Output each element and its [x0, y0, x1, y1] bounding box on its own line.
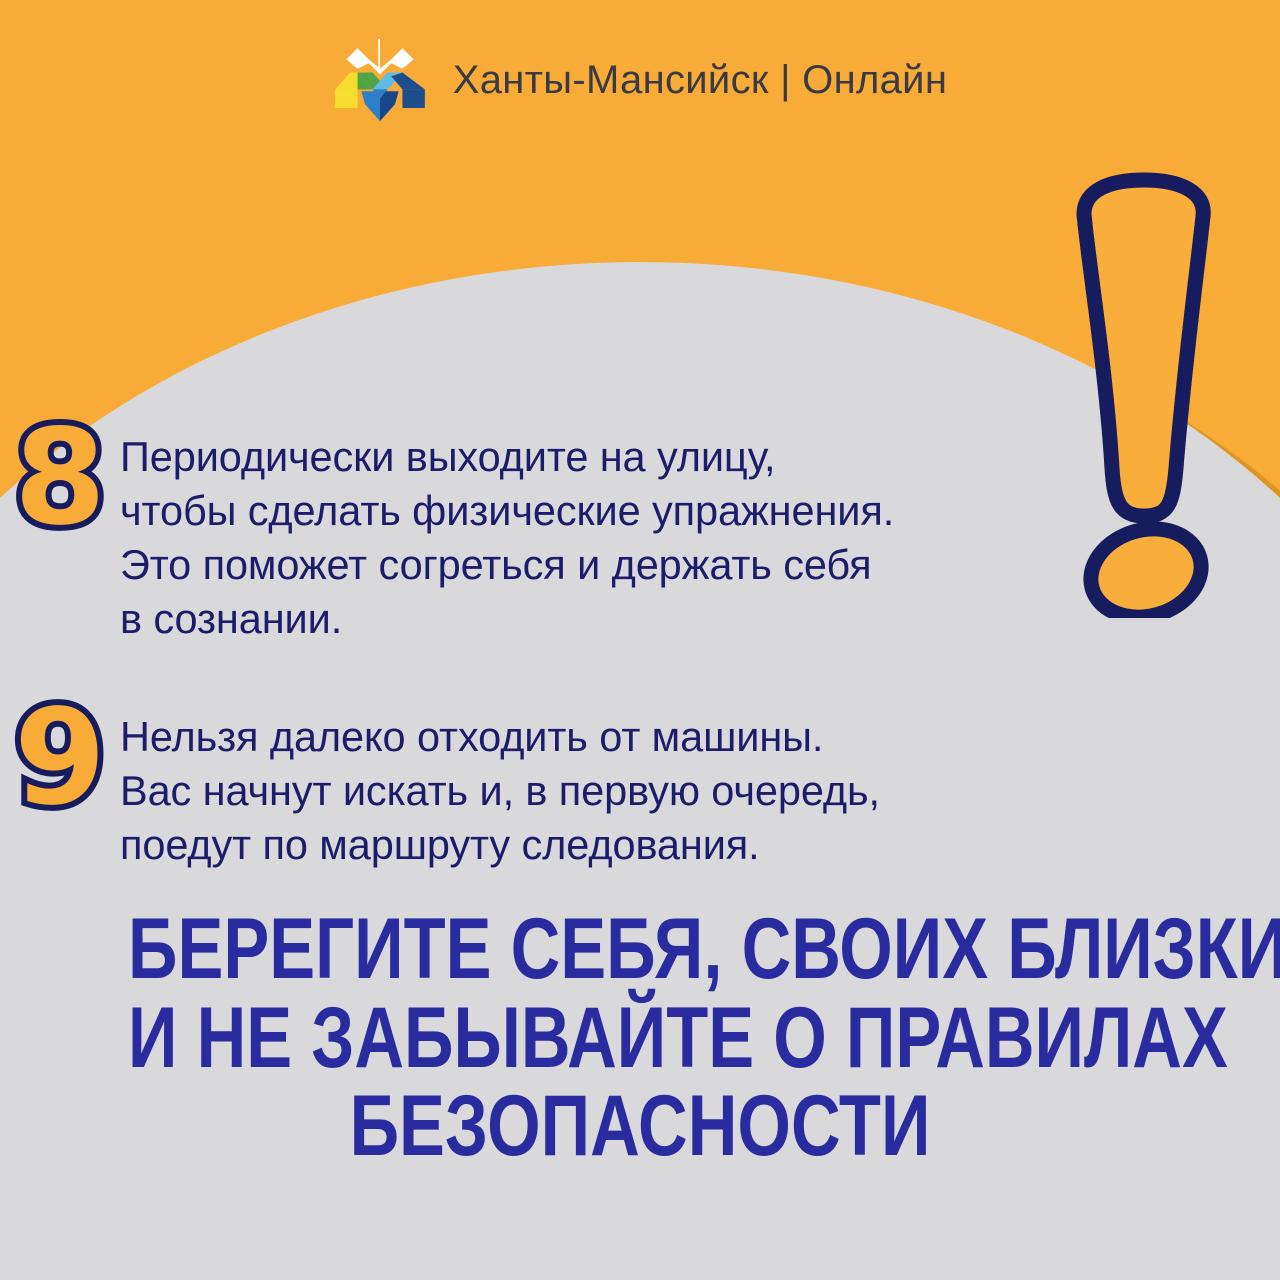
rule-number-8: 8 — [0, 412, 120, 544]
hanty-mansiysk-emblem-icon — [333, 37, 427, 123]
brand-name: Ханты-Мансийск | Онлайн — [453, 58, 947, 103]
rules-list: 8 Периодически выходите на улицу, чтобы … — [0, 418, 1140, 924]
rule-number-9: 9 — [0, 692, 120, 824]
rule-line: поедут по маршруту следования. — [120, 818, 1140, 872]
closing-headline: БЕРЕГИТЕ СЕБЯ, СВОИХ БЛИЗКИХ И НЕ ЗАБЫВА… — [128, 905, 1152, 1171]
rule-line: Периодически выходите на улицу, — [120, 430, 1140, 484]
brand-header: Ханты-Мансийск | Онлайн — [0, 0, 1280, 160]
headline-line: БЕЗОПАСНОСТИ — [128, 1082, 1152, 1171]
rule-item-8: 8 Периодически выходите на улицу, чтобы … — [0, 418, 1140, 646]
rule-item-9: 9 Нельзя далеко отходить от машины. Вас … — [0, 698, 1140, 872]
headline-line: И НЕ ЗАБЫВАЙТЕ О ПРАВИЛАХ — [128, 994, 1152, 1083]
poster-canvas: Ханты-Мансийск | Онлайн 8 Периодически в… — [0, 0, 1280, 1280]
rule-line: Это поможет согреться и держать себя — [120, 538, 1140, 592]
headline-line: БЕРЕГИТЕ СЕБЯ, СВОИХ БЛИЗКИХ — [128, 905, 1152, 994]
exclamation-mark-icon — [1048, 168, 1248, 618]
rule-text-8: Периодически выходите на улицу, чтобы сд… — [120, 418, 1140, 646]
rule-text-9: Нельзя далеко отходить от машины. Вас на… — [120, 698, 1140, 872]
rule-line: чтобы сделать физические упражнения. — [120, 484, 1140, 538]
rule-line: Нельзя далеко отходить от машины. — [120, 710, 1140, 764]
rule-line: в сознании. — [120, 592, 1140, 646]
rule-line: Вас начнут искать и, в первую очередь, — [120, 764, 1140, 818]
